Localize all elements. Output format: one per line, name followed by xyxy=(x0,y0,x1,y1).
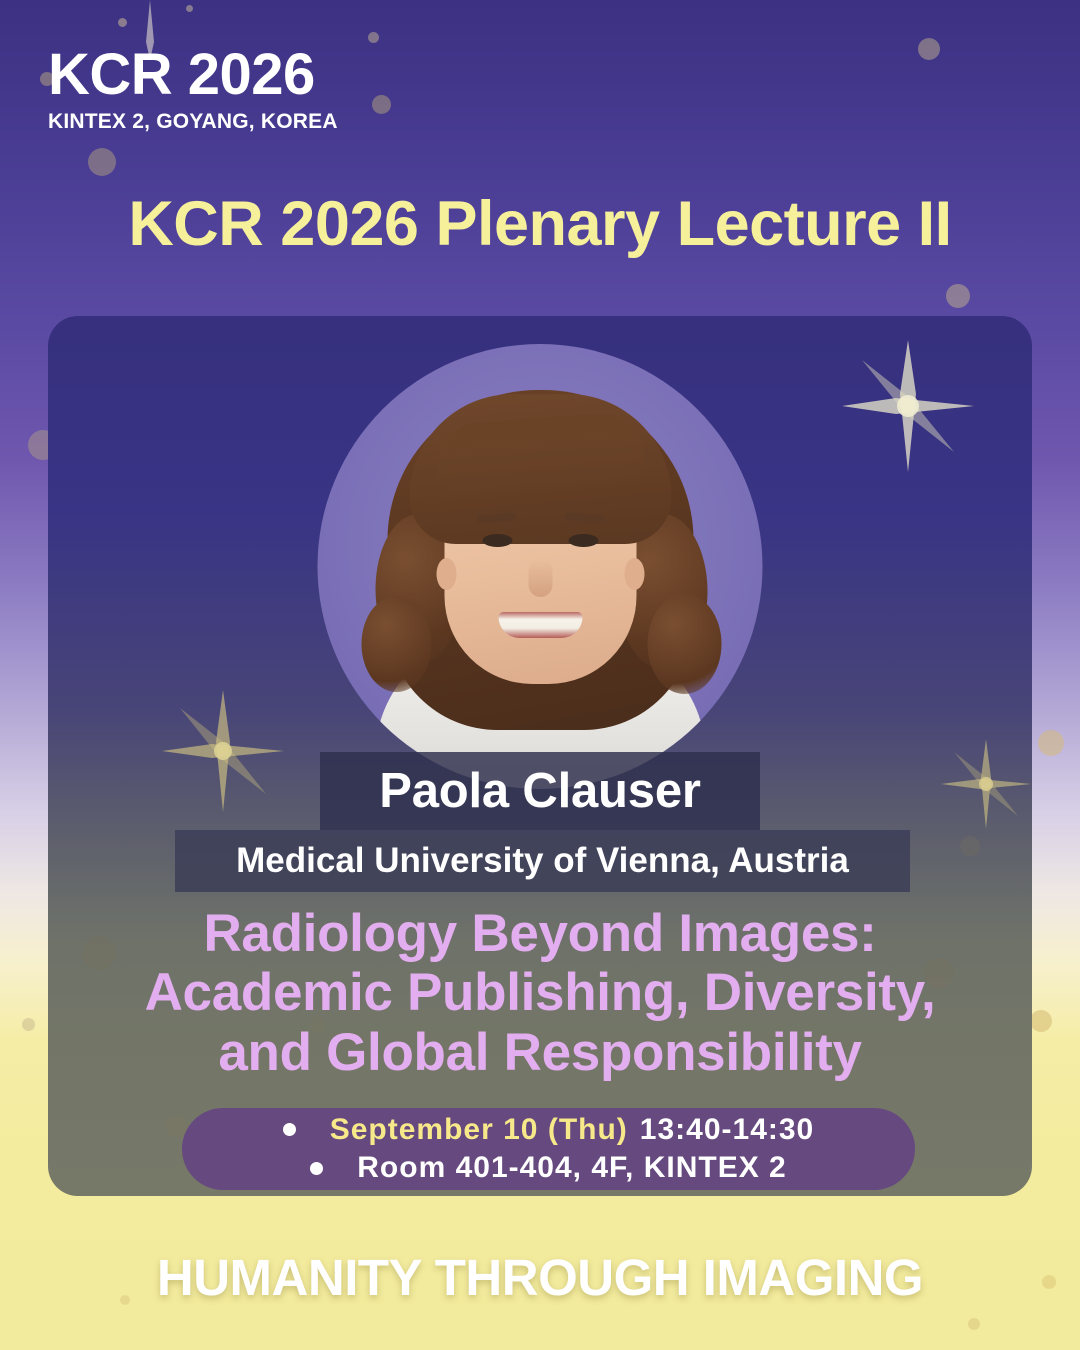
speaker-name-bar: Paola Clauser xyxy=(320,752,760,830)
speaker-affiliation-bar: Medical University of Vienna, Austria xyxy=(175,830,910,892)
speaker-photo xyxy=(318,344,763,789)
lecture-title-line-3: and Global Responsibility xyxy=(48,1023,1032,1082)
schedule-date: September 10 (Thu) xyxy=(330,1111,628,1149)
portrait-hair-curl xyxy=(362,596,432,692)
confetti-dot xyxy=(1030,1010,1052,1032)
portrait-nose xyxy=(528,559,552,597)
confetti-dot xyxy=(88,148,116,176)
portrait-eye-left xyxy=(482,534,512,547)
speaker-affiliation: Medical University of Vienna, Austria xyxy=(236,841,849,881)
speaker-name: Paola Clauser xyxy=(379,763,701,819)
schedule-row-room: Room 401-404, 4F, KINTEX 2 xyxy=(182,1149,915,1187)
kcr-logo: KCR 2026 KINTEX 2, GOYANG, KOREA xyxy=(48,46,338,134)
portrait-eye-right xyxy=(568,534,598,547)
schedule-pill: September 10 (Thu) 13:40-14:30 Room 401-… xyxy=(182,1108,915,1190)
kcr-logo-primary: KCR 2026 xyxy=(48,46,338,104)
bullet-icon xyxy=(283,1123,296,1136)
page-title: KCR 2026 Plenary Lecture II xyxy=(0,188,1080,260)
portrait-mouth xyxy=(498,612,582,638)
portrait-ear-right xyxy=(624,558,644,590)
bullet-icon xyxy=(310,1162,323,1175)
sparkle-star-icon xyxy=(938,736,1032,832)
confetti-dot xyxy=(960,836,980,856)
footer-tagline: HUMANITY THROUGH IMAGING xyxy=(0,1248,1080,1307)
confetti-dot xyxy=(946,284,970,308)
schedule-room: Room 401-404, 4F, KINTEX 2 xyxy=(357,1149,786,1187)
confetti-dot xyxy=(372,95,391,114)
lecture-title: Radiology Beyond Images: Academic Publis… xyxy=(48,904,1032,1082)
lecture-title-line-2: Academic Publishing, Diversity, xyxy=(48,963,1032,1022)
confetti-dot xyxy=(968,1318,980,1330)
confetti-dot xyxy=(118,18,127,27)
portrait-fringe xyxy=(434,411,647,499)
sparkle-star-icon xyxy=(838,336,978,476)
confetti-dot xyxy=(1038,730,1064,756)
schedule-row-datetime: September 10 (Thu) 13:40-14:30 xyxy=(182,1111,915,1149)
kcr-logo-secondary: KINTEX 2, GOYANG, KOREA xyxy=(48,110,338,134)
confetti-dot xyxy=(186,5,193,12)
confetti-dot xyxy=(368,32,379,43)
confetti-dot xyxy=(918,38,940,60)
schedule-time: 13:40-14:30 xyxy=(640,1111,814,1149)
poster-root: Radiology Beyond Images: Academic Publis… xyxy=(0,0,1080,1350)
lecture-title-line-1: Radiology Beyond Images: xyxy=(48,904,1032,963)
sparkle-star-icon xyxy=(158,686,288,816)
portrait-ear-left xyxy=(436,558,456,590)
confetti-dot xyxy=(22,1018,35,1031)
portrait-hair-curl xyxy=(648,594,722,694)
